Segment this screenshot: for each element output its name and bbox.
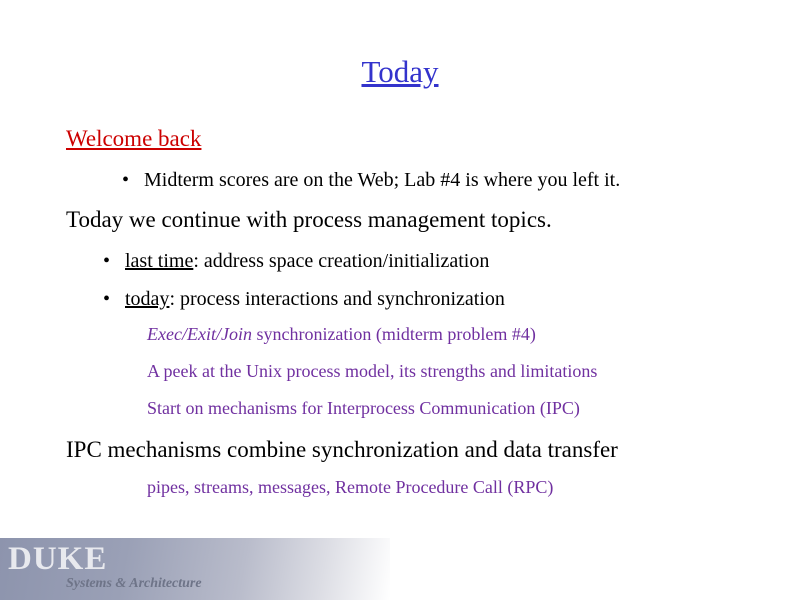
bullet-midterm-text: Midterm scores are on the Web; Lab #4 is… <box>144 169 620 191</box>
bullet-midterm-scores: •Midterm scores are on the Web; Lab #4 i… <box>122 169 620 192</box>
bullet-last-time-label: last time <box>125 250 193 272</box>
subpoint-exec-rest: synchronization (midterm problem #4) <box>252 324 536 344</box>
bullet-today-text: : process interactions and synchronizati… <box>169 288 504 310</box>
bullet-marker: • <box>103 250 125 273</box>
bullet-today: •today: process interactions and synchro… <box>103 288 505 311</box>
heading-ipc-mechanisms: IPC mechanisms combine synchronization a… <box>66 437 618 463</box>
subpoint-unix-process-model: A peek at the Unix process model, its st… <box>147 361 597 382</box>
bullet-marker: • <box>103 288 125 311</box>
bullet-marker: • <box>122 169 144 192</box>
page-title: Today <box>0 54 800 90</box>
subpoint-exec-italic: Exec/Exit/Join <box>147 324 252 344</box>
slide-canvas: Today Welcome back •Midterm scores are o… <box>0 0 800 600</box>
subpoint-exec-exit-join: Exec/Exit/Join synchronization (midterm … <box>147 324 536 345</box>
bullet-last-time: •last time: address space creation/initi… <box>103 250 489 273</box>
subpoint-ipc-mechanisms-start: Start on mechanisms for Interprocess Com… <box>147 398 580 419</box>
subpoint-pipes-streams: pipes, streams, messages, Remote Procedu… <box>147 477 553 498</box>
heading-process-management: Today we continue with process managemen… <box>66 207 552 233</box>
bullet-today-label: today <box>125 288 169 310</box>
duke-wordmark: DUKE <box>8 541 107 578</box>
duke-tagline: Systems & Architecture <box>66 576 202 592</box>
welcome-heading: Welcome back <box>66 126 201 152</box>
duke-logo-band: DUKE Systems & Architecture <box>0 538 390 600</box>
bullet-last-time-text: : address space creation/initialization <box>193 250 489 272</box>
